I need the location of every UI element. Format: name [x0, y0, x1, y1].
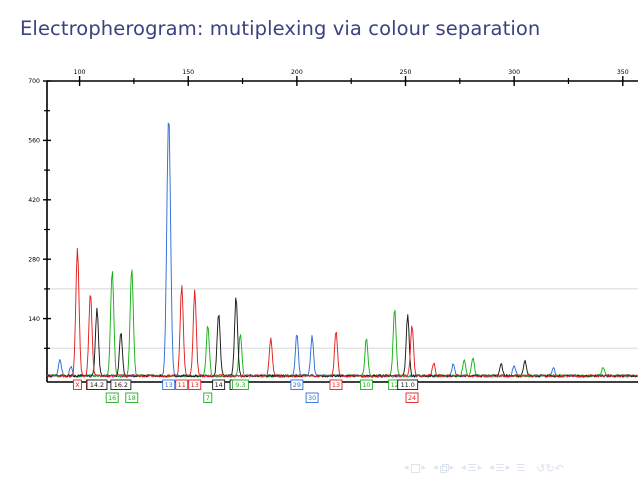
allele-label: 11.0: [398, 380, 418, 390]
next-section-icon[interactable]: ▸: [478, 464, 483, 473]
allele-label: 13: [189, 380, 201, 390]
prev-section-icon[interactable]: ◂: [461, 464, 466, 473]
allele-label-text: 14.2: [90, 381, 104, 389]
allele-label-text: 9.3: [235, 381, 245, 389]
y-tick-label: 560: [28, 138, 40, 145]
allele-label: 13: [330, 380, 342, 390]
allele-label: 10: [360, 380, 372, 390]
allele-label: 18: [126, 393, 138, 403]
slide-canvas: Electropherogram: mutiplexing via colour…: [0, 0, 640, 480]
allele-label-text: 11.0: [401, 381, 415, 389]
allele-label-text: 16: [108, 394, 116, 402]
prev-frame-icon[interactable]: ◂: [404, 464, 409, 473]
allele-label-text: 13: [165, 381, 173, 389]
allele-label-text: 14: [215, 381, 223, 389]
x-tick-label: 200: [291, 69, 303, 76]
next-subsection-icon[interactable]: ▸: [450, 464, 455, 473]
allele-label-text: 13: [191, 381, 199, 389]
electropherogram-plot: 100150200250300350700560420280140XY14.21…: [0, 60, 640, 425]
x-tick-label: 250: [400, 69, 412, 76]
allele-label-text: 16.2: [114, 381, 128, 389]
allele-label: 30: [306, 393, 318, 403]
allele-label-text: 10: [362, 381, 370, 389]
beamer-nav-frame[interactable]: ◂ ▸: [404, 464, 426, 473]
prev-presentation-icon[interactable]: ◂: [489, 464, 494, 473]
beamer-navigation-bar[interactable]: ◂ ▸ ◂ ▸ ◂ ▸ ◂ ▸ ↺↻↶: [404, 461, 630, 475]
allele-label-text: X: [75, 381, 80, 389]
back-forward-icons[interactable]: ↺↻↶: [536, 463, 564, 474]
allele-label: 14.2: [87, 380, 107, 390]
beamer-nav-section[interactable]: ◂ ▸: [461, 464, 482, 473]
allele-label: 13: [163, 380, 175, 390]
subsection-icon[interactable]: [440, 464, 448, 472]
allele-label: 11: [176, 380, 188, 390]
dye-trace: [47, 248, 638, 377]
allele-label: 16: [106, 393, 118, 403]
y-tick-label: 420: [28, 197, 40, 204]
prev-subsection-icon[interactable]: ◂: [433, 464, 438, 473]
next-presentation-icon[interactable]: ▸: [506, 464, 511, 473]
y-tick-label: 700: [28, 78, 40, 85]
next-frame-icon[interactable]: ▸: [422, 464, 427, 473]
x-tick-label: 300: [508, 69, 520, 76]
presentation-icon[interactable]: [496, 464, 504, 473]
dye-trace: [47, 270, 638, 377]
x-tick-label: 100: [74, 69, 86, 76]
allele-label-text: 13: [332, 381, 340, 389]
beamer-nav-document[interactable]: [517, 464, 525, 473]
section-icon[interactable]: [468, 464, 476, 473]
allele-label: X: [73, 380, 81, 390]
allele-label-text: 7: [206, 394, 210, 402]
allele-label: 9.3: [232, 380, 248, 390]
beamer-nav-presentation[interactable]: ◂ ▸: [489, 464, 510, 473]
allele-label: 16.2: [111, 380, 131, 390]
allele-label: 7: [204, 393, 212, 403]
x-tick-label: 150: [182, 69, 194, 76]
allele-label-text: 30: [308, 394, 316, 402]
allele-label: 24: [406, 393, 418, 403]
document-icon[interactable]: [517, 464, 525, 473]
allele-label-text: 29: [293, 381, 301, 389]
y-tick-label: 280: [28, 256, 40, 263]
electropherogram-figure: 100150200250300350700560420280140XY14.21…: [0, 60, 640, 425]
allele-label-text: 18: [128, 394, 136, 402]
allele-label-text: 24: [408, 394, 416, 402]
y-tick-label: 140: [28, 316, 40, 323]
allele-label: 29: [291, 380, 303, 390]
allele-label: 14: [213, 380, 225, 390]
allele-label-text: 11: [178, 381, 186, 389]
x-tick-label: 350: [617, 69, 629, 76]
dye-trace: [47, 123, 638, 377]
beamer-nav-subsection[interactable]: ◂ ▸: [433, 464, 454, 473]
page-title: Electropherogram: mutiplexing via colour…: [20, 17, 540, 40]
frame-icon[interactable]: [411, 464, 420, 473]
